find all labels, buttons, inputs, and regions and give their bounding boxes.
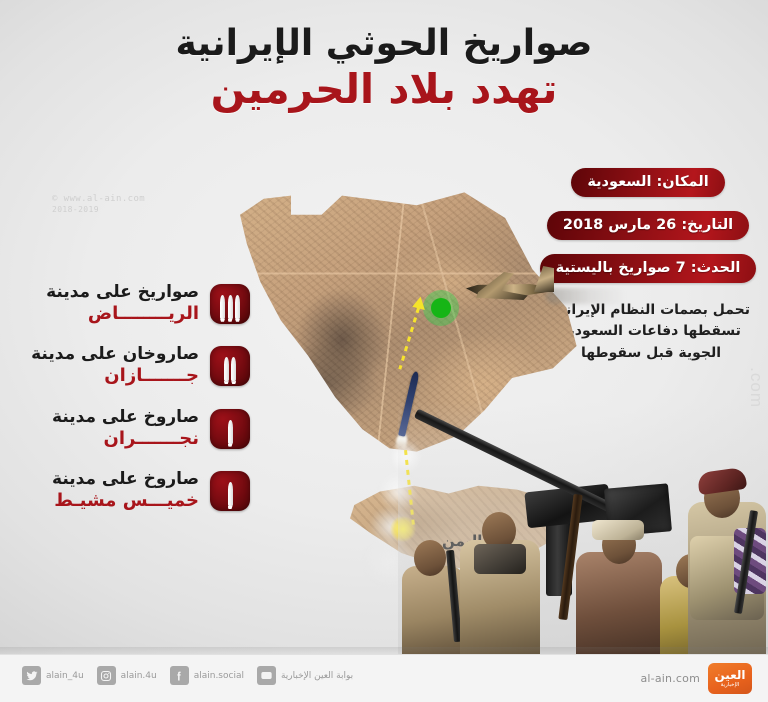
alain-logo[interactable]: العين الإخبارية (708, 663, 752, 694)
facebook-icon[interactable] (170, 666, 189, 685)
social-link-instagram[interactable]: alain.4u (97, 666, 157, 685)
fighter-headwrap (592, 520, 644, 540)
social-handle: بوابة العين الإخبارية (281, 671, 353, 681)
watermark-copyright: © www.al-ain.com (52, 194, 145, 205)
strike-item-jazan: صاروخان على مدينة جـــــــازان (18, 344, 250, 387)
fighter-figure (576, 552, 662, 660)
fighter-jet (450, 262, 554, 314)
strike-city: الريــــــــاض (46, 302, 199, 325)
youtube-icon[interactable] (257, 666, 276, 685)
strike-item-najran: صاروخ على مدينة نجـــــــران (18, 407, 250, 450)
title-line-1: صواريخ الحوثي الإيرانية (0, 24, 768, 64)
fighter-scarf (474, 544, 526, 574)
watermark-years: 2018-2019 (52, 205, 145, 215)
strike-item-riyadh: صواريخ على مدينة الريــــــــاض (18, 282, 250, 325)
social-handle: alain_4u (46, 671, 84, 681)
watermark: © www.al-ain.com 2018-2019 (52, 194, 145, 215)
strike-city: نجـــــــران (52, 427, 199, 450)
logo-sub-text: الإخبارية (721, 683, 740, 689)
instagram-icon[interactable] (97, 666, 116, 685)
strike-label: صاروخ على مدينة (52, 407, 199, 427)
strike-label: صواريخ على مدينة (46, 282, 199, 302)
poster-title: صواريخ الحوثي الإيرانية تهدد بلاد الحرمي… (0, 24, 768, 113)
strike-city: جـــــــازان (31, 364, 199, 387)
jet-trail (546, 288, 626, 304)
strike-list: صواريخ على مدينة الريــــــــاض صاروخان … (18, 282, 250, 513)
title-line-2: تهدد بلاد الحرمين (0, 66, 768, 113)
social-link-twitter[interactable]: alain_4u (22, 666, 84, 685)
strike-city: خميـــس مشيـط (52, 489, 199, 512)
jet-tail (534, 266, 554, 292)
logo-main-text: العين (714, 669, 745, 681)
social-link-facebook[interactable]: alain.social (170, 666, 244, 685)
strike-label: صاروخ على مدينة (52, 469, 199, 489)
social-link-youtube[interactable]: بوابة العين الإخبارية (257, 666, 353, 685)
social-handle: alain.social (194, 671, 244, 681)
footer-bar: alain_4u alain.4u alain.social بوابة الع… (0, 654, 768, 702)
strike-label: صاروخان على مدينة (31, 344, 199, 364)
strike-item-khamis-mushait: صاروخ على مدينة خميـــس مشيـط (18, 469, 250, 512)
brand-block[interactable]: al-ain.com العين الإخبارية (640, 663, 752, 694)
site-url[interactable]: al-ain.com (640, 672, 700, 685)
social-links: alain_4u alain.4u alain.social بوابة الع… (22, 666, 353, 685)
infographic-poster: صواريخ الحوثي الإيرانية تهدد بلاد الحرمي… (0, 0, 768, 702)
social-handle: alain.4u (121, 671, 157, 681)
twitter-icon[interactable] (22, 666, 41, 685)
houthi-fighters-photo (398, 402, 768, 660)
fighter-head (414, 540, 446, 576)
